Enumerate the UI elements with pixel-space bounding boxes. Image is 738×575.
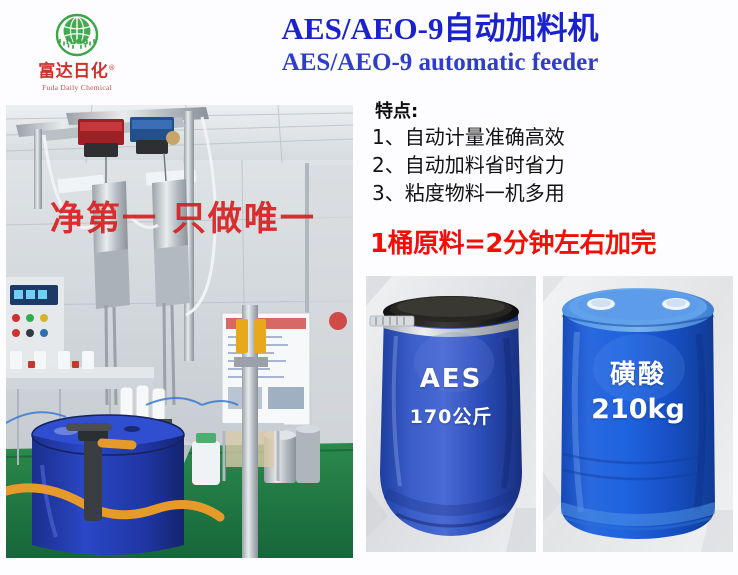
feature-item-1: 1、自动计量准确高效 [372, 123, 732, 151]
slide-canvas: fuda 富达日化® Fuda Daily Chemical AES/AEO-9… [0, 0, 738, 575]
feature-item-3-number: 3、 [372, 179, 405, 207]
features-block: 特点: 1、自动计量准确高效 2、自动加料省时省力 3、粘度物料一机多用 [372, 100, 732, 207]
drum-photo-aes: AES 170公斤 [366, 276, 536, 552]
title-block: AES/AEO-9自动加料机 AES/AEO-9 automatic feede… [150, 10, 730, 78]
feature-item-1-number: 1、 [372, 123, 405, 151]
feature-item-3-text: 粘度物料一机多用 [405, 181, 565, 205]
company-logo: fuda 富达日化® Fuda Daily Chemical [18, 12, 136, 96]
highlight-statement: 1桶原料=2分钟左右加完 [370, 228, 734, 260]
slide-header: fuda 富达日化® Fuda Daily Chemical AES/AEO-9… [0, 0, 738, 100]
features-heading: 特点: [375, 100, 732, 123]
production-line-photo: 净第一 只做唯一 [6, 105, 353, 558]
green-globe-icon: fuda [54, 12, 100, 58]
drum-photo-sulfonic-acid: 磺酸 210kg [543, 276, 733, 552]
feature-item-3: 3、粘度物料一机多用 [372, 179, 732, 207]
wall-slogan-graphic: 净第一 只做唯一 [46, 199, 316, 239]
logo-company-name-cn: 富达日化® [38, 59, 116, 81]
page-title: AES/AEO-9自动加料机 [150, 10, 730, 48]
feature-item-2: 2、自动加料省时省力 [372, 151, 732, 179]
logo-company-name-cn-text: 富达日化 [38, 62, 108, 82]
svg-text:净第一 只做唯一: 净第一 只做唯一 [50, 199, 316, 239]
feature-item-2-text: 自动加料省时省力 [405, 153, 565, 177]
feature-item-2-number: 2、 [372, 151, 405, 179]
registered-trademark-icon: ® [108, 64, 116, 72]
page-subtitle: AES/AEO-9 automatic feeder [150, 48, 730, 78]
logo-wordmark-text: fuda [66, 37, 89, 47]
feature-item-1-text: 自动计量准确高效 [405, 125, 565, 149]
logo-company-name-en: Fuda Daily Chemical [18, 83, 136, 93]
